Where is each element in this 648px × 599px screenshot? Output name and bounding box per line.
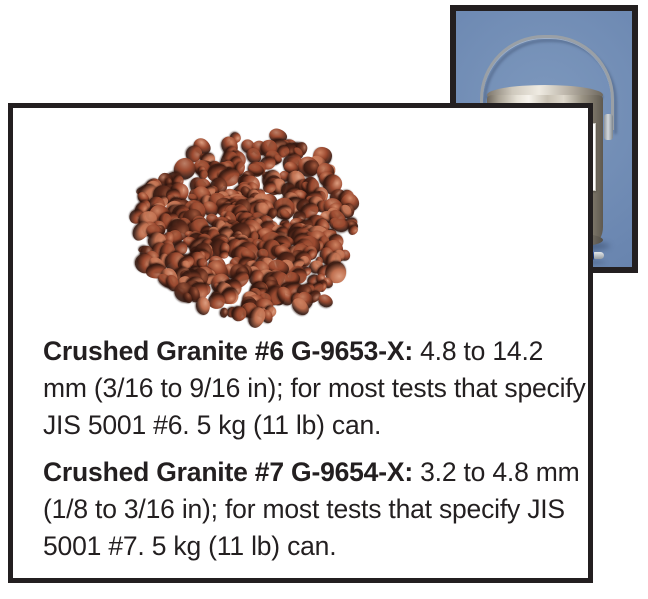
product-specifications: Crushed Granite #6 G-9653-X: 4.8 to 14.2… — [43, 333, 588, 565]
spec-paragraph-2: Crushed Granite #7 G-9654-X: 3.2 to 4.8 … — [43, 454, 588, 565]
spec-1-name: Crushed Granite #6 G-9653-X: — [43, 336, 413, 366]
can-handle-ear-right — [604, 114, 613, 140]
granite-pile — [117, 113, 367, 328]
spec-2-name: Crushed Granite #7 G-9654-X: — [43, 457, 413, 487]
crushed-granite-photo — [117, 113, 367, 328]
spec-paragraph-1: Crushed Granite #6 G-9653-X: 4.8 to 14.2… — [43, 333, 588, 444]
pen-cap-end — [594, 252, 604, 259]
product-card: Crushed Granite #6 G-9653-X: 4.8 to 14.2… — [8, 103, 593, 583]
